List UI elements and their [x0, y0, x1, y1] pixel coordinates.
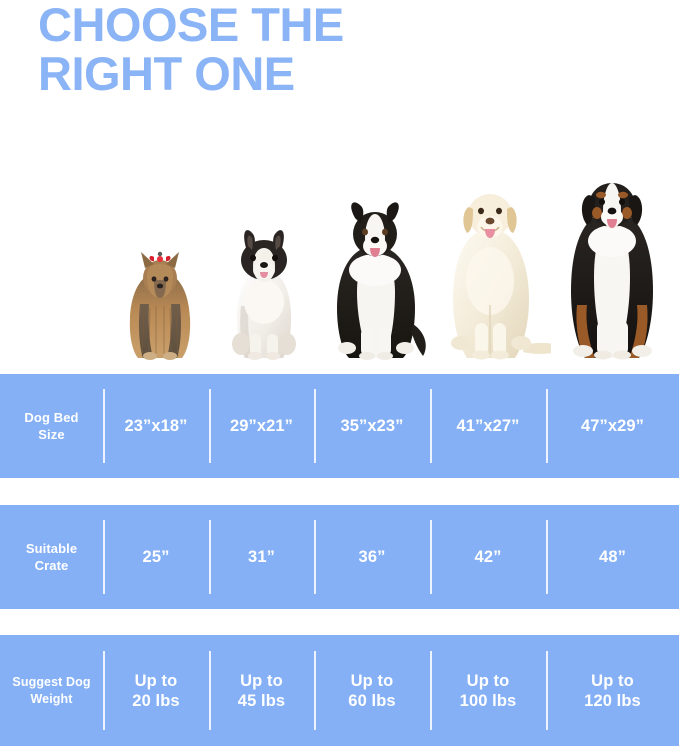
cell-dog-bed-size-col4: 41”x27”: [430, 374, 546, 478]
dog-image-labrador-retriever: [432, 175, 552, 360]
dog-size-illustrations: [0, 150, 679, 360]
dog-image-yorkshire-terrier: [112, 240, 208, 360]
cell-suggest-dog-weight-col4: Up to 100 lbs: [430, 635, 546, 746]
cell-dog-bed-size-col1: 23”x18”: [103, 374, 209, 478]
red-bow-icon: [150, 252, 171, 262]
table-row-dog-bed-size: Dog Bed Size 23”x18” 29”x21” 35”x23” 41”…: [0, 374, 679, 478]
row-label-dog-bed-size: Dog Bed Size: [0, 374, 103, 478]
cell-suitable-crate-col3: 36”: [314, 505, 430, 609]
page-title: CHOOSE THE RIGHT ONE: [38, 0, 638, 98]
row-label-suggest-dog-weight: Suggest Dog Weight: [0, 635, 103, 746]
cell-suggest-dog-weight-col1: Up to 20 lbs: [103, 635, 209, 746]
cell-suitable-crate-col5: 48”: [546, 505, 679, 609]
dog-image-bernese-mountain-dog: [552, 165, 672, 360]
cell-suggest-dog-weight-col5: Up to 120 lbs: [546, 635, 679, 746]
cell-dog-bed-size-col5: 47”x29”: [546, 374, 679, 478]
row-label-suitable-crate: Suitable Crate: [0, 505, 103, 609]
cell-suggest-dog-weight-col2: Up to 45 lbs: [209, 635, 314, 746]
cell-dog-bed-size-col2: 29”x21”: [209, 374, 314, 478]
page-header: CHOOSE THE RIGHT ONE: [38, 0, 638, 98]
cell-suitable-crate-col4: 42”: [430, 505, 546, 609]
cell-suitable-crate-col2: 31”: [209, 505, 314, 609]
cell-suitable-crate-col1: 25”: [103, 505, 209, 609]
table-row-suitable-crate: Suitable Crate 25” 31” 36” 42” 48”: [0, 505, 679, 609]
dog-image-french-bulldog: [216, 220, 312, 360]
cell-dog-bed-size-col3: 35”x23”: [314, 374, 430, 478]
cell-suggest-dog-weight-col3: Up to 60 lbs: [314, 635, 430, 746]
table-row-suggest-dog-weight: Suggest Dog Weight Up to 20 lbs Up to 45…: [0, 635, 679, 746]
dog-image-border-collie: [316, 190, 434, 360]
